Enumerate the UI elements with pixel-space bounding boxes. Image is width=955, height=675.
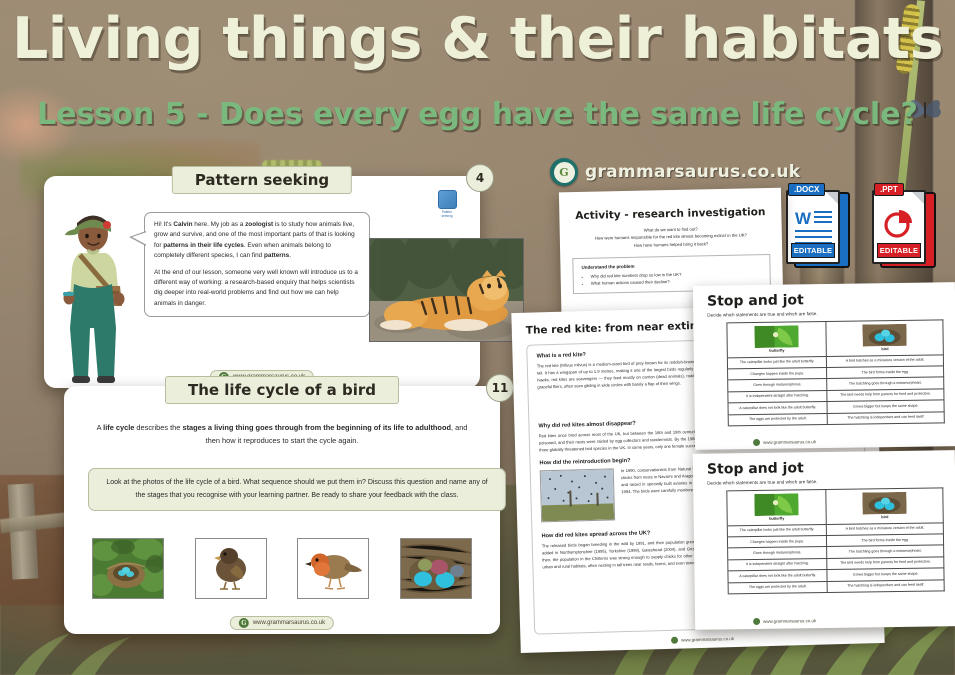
column-header-bird: bird — [826, 488, 943, 524]
stop-and-jot-table: butterfly bird The caterpillar looks jus… — [705, 319, 944, 426]
table-header-row: butterfly bird — [705, 320, 943, 358]
badge-front-sheet: W EDITABLE — [786, 190, 840, 264]
nest-with-blue-eggs-photo — [400, 538, 472, 599]
pattern-seeking-icon-caption: Pattern seeking — [436, 210, 458, 218]
logo-letter: G — [559, 166, 568, 179]
stop-and-jot-subtitle: Decide which statements are true and whi… — [707, 309, 955, 317]
document-footer: www.grammarsaurus.co.uk — [753, 617, 816, 625]
cell-bird[interactable]: The hatchling is independent and can fee… — [828, 411, 945, 424]
page-subtitle: Lesson 5 - Does every egg have the same … — [0, 98, 955, 131]
column-label: bird — [829, 346, 941, 353]
fledgling-chick-photo — [195, 538, 267, 599]
stop-and-jot-title: Stop and jot — [707, 458, 955, 477]
speech-paragraph-1: Hi! It's Calvin here. My job as a zoolog… — [154, 220, 360, 262]
tiger-photo — [369, 238, 524, 342]
table-row[interactable]: The eggs are protected by the adult. The… — [707, 579, 945, 594]
badge-front-sheet: EDITABLE — [872, 190, 926, 264]
speech-paragraph-2: At the end of our lesson, someone very w… — [154, 268, 360, 310]
footer-logo-icon — [753, 618, 760, 625]
docx-type-label: .DOCX — [788, 183, 825, 196]
cell-bird[interactable]: The hatchling is independent and can fee… — [827, 579, 944, 592]
document-footer: www.grammarsaurus.co.uk — [671, 635, 734, 644]
footer-logo-icon — [671, 637, 678, 644]
column-header-bird: bird — [826, 320, 943, 356]
footer-url: www.grammarsaurus.co.uk — [253, 620, 325, 626]
stop-and-jot-title: Stop and jot — [707, 290, 955, 309]
slide-title: Pattern seeking — [172, 166, 352, 194]
slide-title: The life cycle of a bird — [165, 376, 399, 404]
life-cycle-task-box: Look at the photos of the life cycle of … — [88, 468, 506, 511]
butterfly-egg-leaf-photo — [755, 325, 799, 348]
calvin-character-illustration — [50, 206, 136, 384]
cell-butterfly[interactable]: The eggs are protected by the adult. — [728, 413, 828, 426]
docx-file-badge[interactable]: W EDITABLE .DOCX — [786, 186, 846, 264]
nest-with-eggs-photo — [92, 538, 164, 599]
slide-life-cycle-of-a-bird[interactable]: The life cycle of a bird 11 A life cycle… — [64, 386, 500, 634]
footer-logo-icon — [753, 439, 760, 446]
stop-and-jot-table: butterfly bird The caterpillar looks jus… — [705, 487, 944, 594]
word-letter-icon: W — [795, 210, 811, 227]
document-stop-and-jot-2[interactable]: Stop and jot Decide which statements are… — [693, 450, 955, 630]
activity-box-heading: Understand the problem — [581, 261, 761, 270]
cell-butterfly[interactable]: The eggs are protected by the adult. — [728, 581, 828, 594]
slide-footer: G www.grammarsaurus.co.uk — [230, 616, 334, 630]
pattern-seeking-icon: Pattern seeking — [436, 190, 458, 218]
bird-eggs-nest-photo — [863, 324, 907, 347]
slide-page-number: 4 — [466, 164, 494, 192]
life-cycle-definition: A life cycle describes the stages a livi… — [90, 422, 474, 448]
table-row[interactable]: The eggs are protected by the adult. The… — [707, 411, 945, 426]
pie-chart-icon — [884, 208, 914, 238]
column-label: butterfly — [730, 516, 825, 523]
page-title: Living things & their habitats — [0, 10, 955, 70]
red-kite-flock-photo — [540, 468, 615, 522]
document-footer: www.grammarsaurus.co.uk — [753, 438, 816, 446]
word-lines-icon — [814, 211, 832, 226]
activity-title: Activity - research investigation — [559, 206, 781, 223]
ppt-editable-label: EDITABLE — [877, 243, 921, 258]
ppt-file-badge[interactable]: EDITABLE .PPT — [872, 186, 932, 264]
footer-url: www.grammarsaurus.co.uk — [763, 618, 816, 624]
row-label-spacer — [705, 491, 727, 526]
grammarsaurus-logo-icon: G — [550, 158, 578, 186]
stop-and-jot-subtitle: Decide which statements are true and whi… — [707, 477, 955, 485]
footer-logo-icon: G — [239, 618, 249, 628]
adult-robin-photo — [297, 538, 369, 599]
brand-name: grammarsaurus.co.uk — [585, 162, 800, 182]
activity-subtitle: What do we want to find out? How were hu… — [578, 224, 764, 250]
slide-pattern-seeking[interactable]: Pattern seeking 4 Pattern seeking Hi! It… — [44, 176, 480, 388]
page-fold-icon — [911, 191, 925, 205]
bird-eggs-nest-photo — [863, 492, 907, 515]
row-label-spacer — [705, 323, 727, 358]
table-header-row: butterfly bird — [705, 488, 943, 526]
footer-url: www.grammarsaurus.co.uk — [681, 636, 734, 642]
column-label: butterfly — [730, 348, 825, 355]
life-cycle-photo-row — [92, 538, 472, 599]
slide-page-number: 11 — [486, 374, 514, 402]
column-label: bird — [829, 514, 941, 521]
page-fold-icon — [825, 191, 839, 205]
column-header-butterfly: butterfly — [727, 321, 827, 357]
column-header-butterfly: butterfly — [727, 489, 827, 525]
footer-url: www.grammarsaurus.co.uk — [763, 439, 816, 445]
calvin-speech-bubble: Hi! It's Calvin here. My job as a zoolog… — [144, 212, 370, 317]
document-stop-and-jot-1[interactable]: Stop and jot Decide which statements are… — [693, 282, 955, 450]
butterfly-egg-leaf-photo — [754, 493, 798, 516]
brand-logo: G grammarsaurus.co.uk — [550, 158, 800, 186]
docx-editable-label: EDITABLE — [791, 243, 835, 258]
ppt-type-label: .PPT — [874, 183, 904, 196]
